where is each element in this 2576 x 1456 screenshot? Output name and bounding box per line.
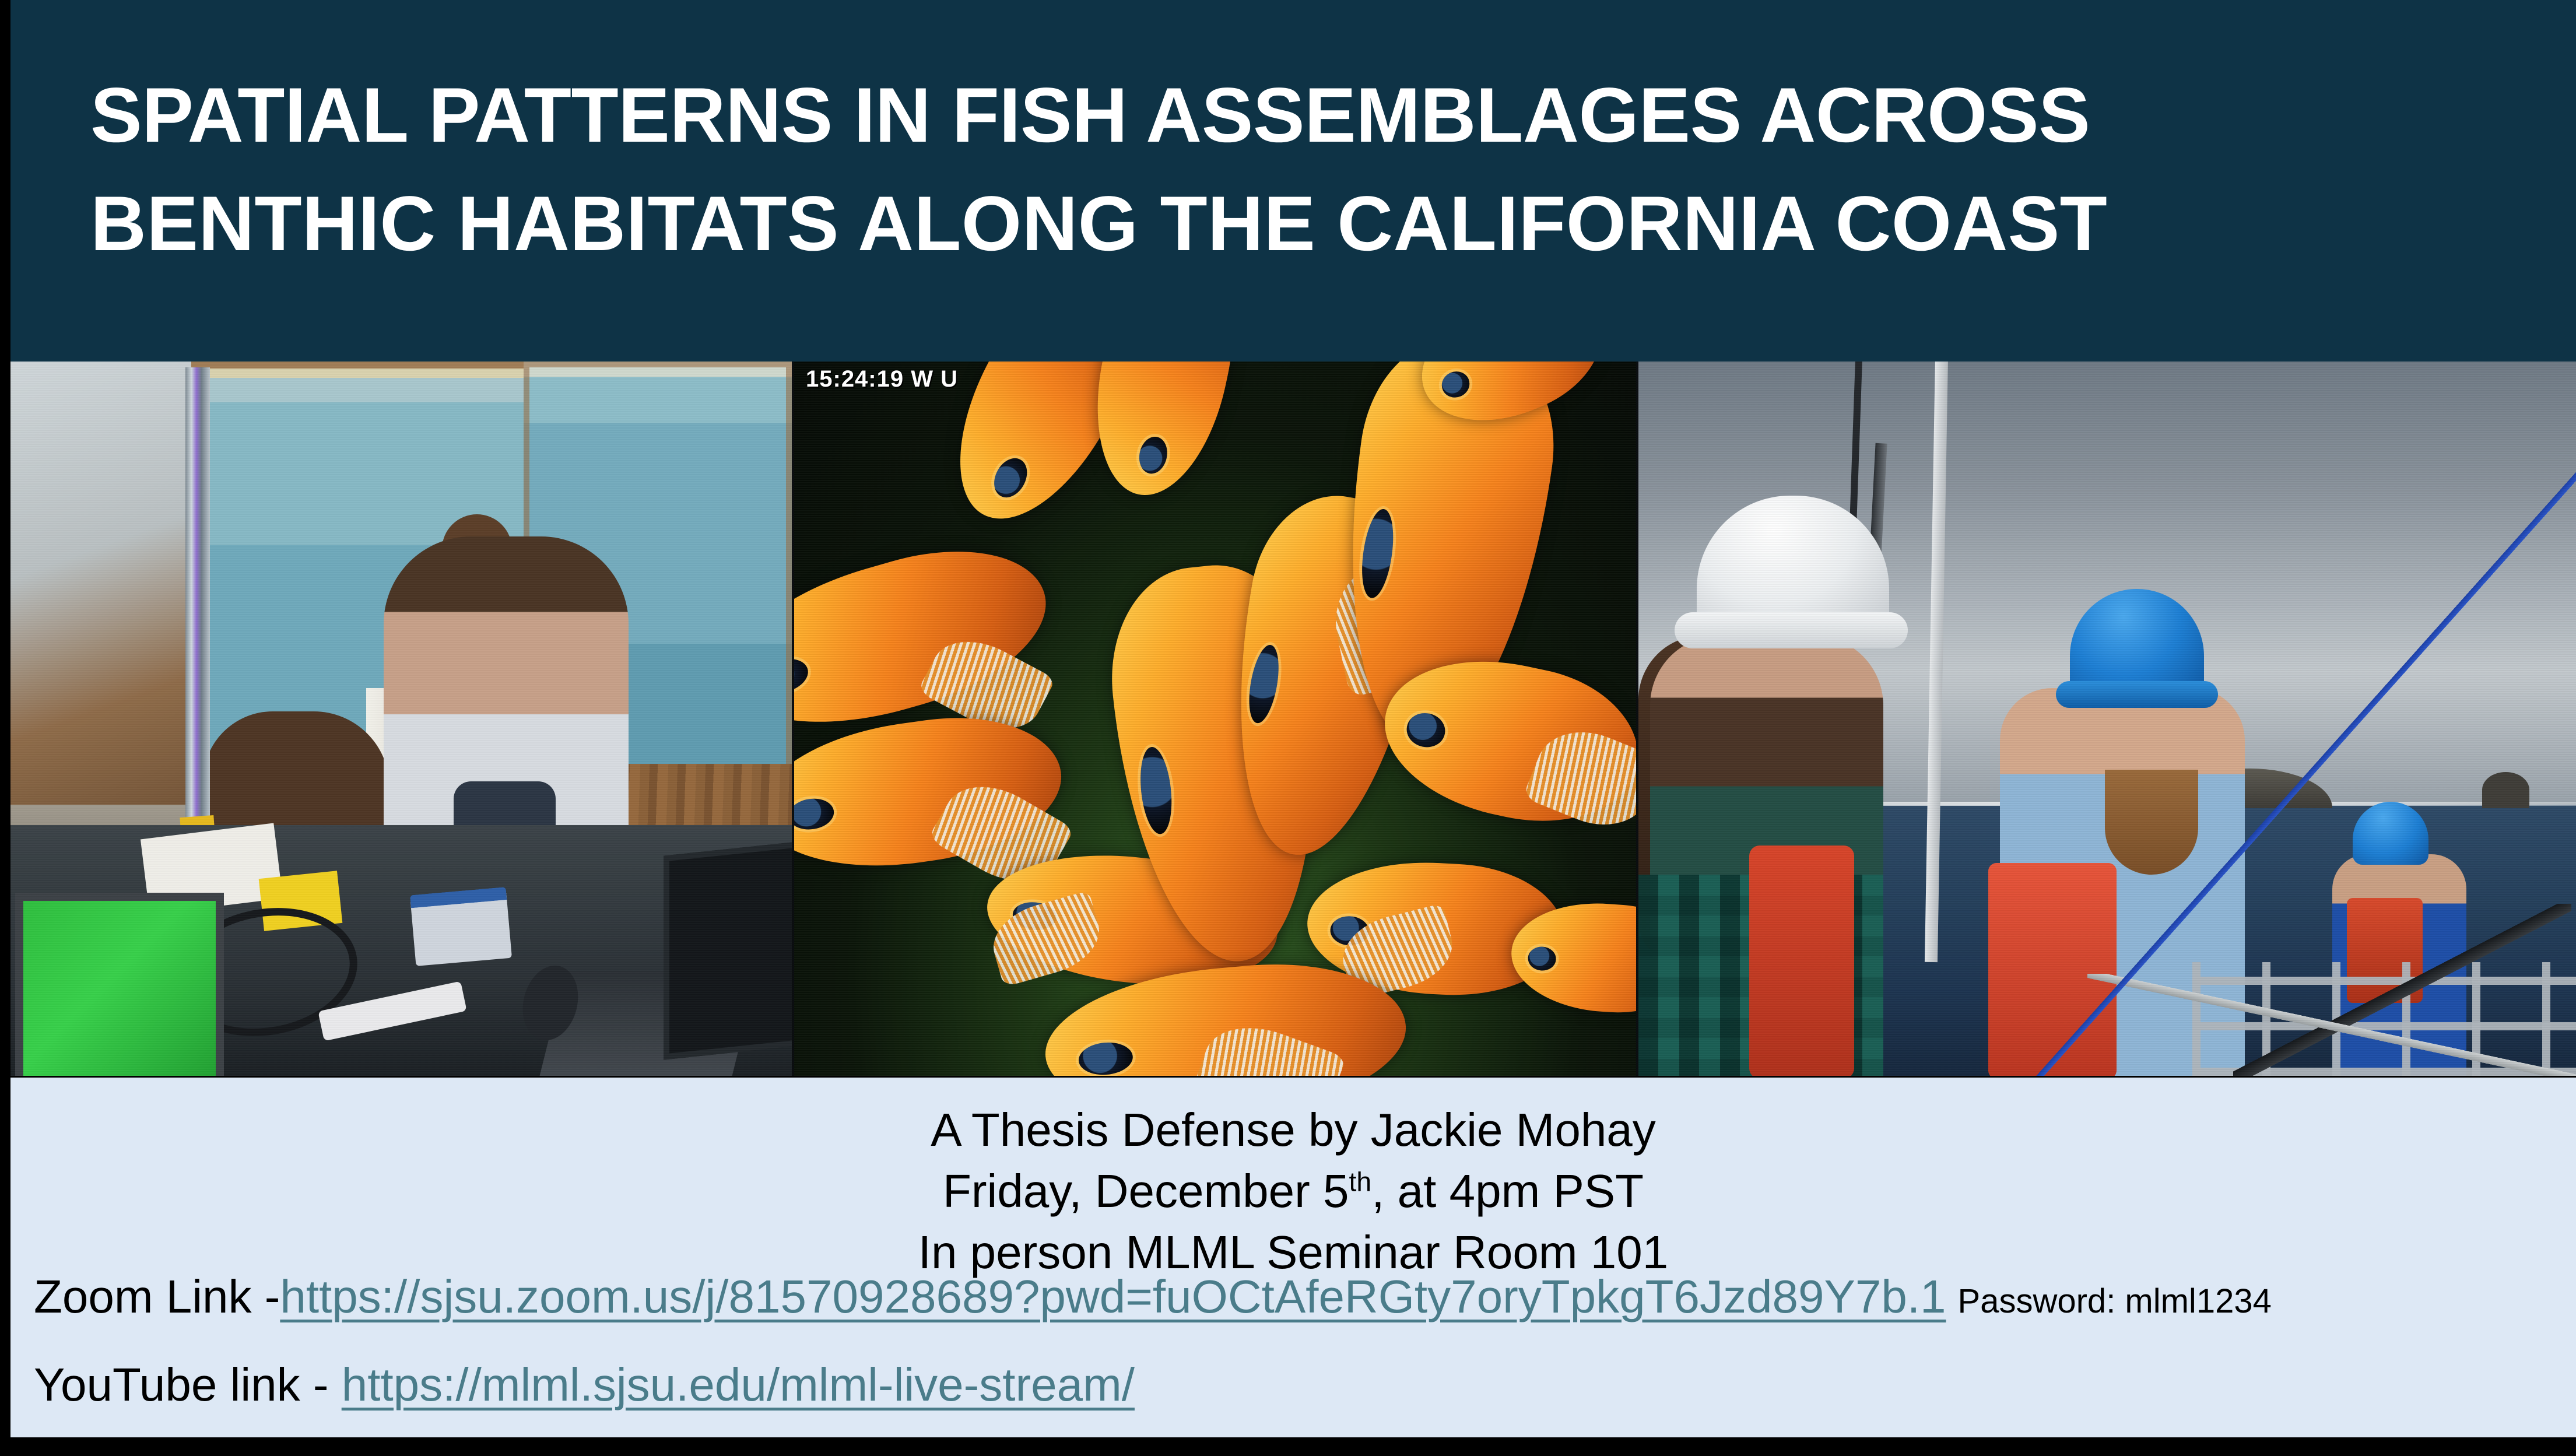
time-suffix: , at 4pm PST xyxy=(1371,1165,1644,1217)
cabin-wall xyxy=(10,362,191,840)
slide-frame-bottom-edge xyxy=(0,1437,2576,1456)
green-screen-monitor xyxy=(15,893,224,1076)
slide-frame-left-edge xyxy=(0,0,10,1456)
title-line-2: BENTHIC HABITATS ALONG THE CALIFORNIA CO… xyxy=(90,170,2498,278)
defense-presenter-line: A Thesis Defense by Jackie Mohay xyxy=(10,1100,2576,1161)
photo-rockfish-aggregation: 15:24:19 W U xyxy=(792,362,1638,1076)
page-title: SPATIAL PATTERNS IN FISH ASSEMBLAGES ACR… xyxy=(90,61,2498,278)
title-line-1: SPATIAL PATTERNS IN FISH ASSEMBLAGES ACR… xyxy=(90,61,2498,170)
youtube-link-row: YouTube link - https://mlml.sjsu.edu/mlm… xyxy=(34,1358,1135,1412)
title-header-band: SPATIAL PATTERNS IN FISH ASSEMBLAGES ACR… xyxy=(10,0,2576,362)
secondary-monitor xyxy=(664,841,792,1059)
video-timestamp-overlay: 15:24:19 W U xyxy=(806,366,958,392)
photo-grain-overlay xyxy=(1638,362,2576,1076)
zoom-link-row: Zoom Link -https://sjsu.zoom.us/j/815709… xyxy=(34,1270,2272,1324)
defense-datetime-line: Friday, December 5th, at 4pm PST xyxy=(10,1161,2576,1222)
photo-researchers-at-monitoring-station xyxy=(10,362,792,1076)
zoom-link-label: Zoom Link - xyxy=(34,1271,280,1322)
blue-equipment-case xyxy=(410,887,512,966)
video-grain-overlay xyxy=(794,362,1636,1076)
photo-deck-crew xyxy=(1638,362,2576,1076)
youtube-live-stream-link[interactable]: https://mlml.sjsu.edu/mlml-live-stream/ xyxy=(342,1359,1135,1411)
thesis-defense-announcement-slide: SPATIAL PATTERNS IN FISH ASSEMBLAGES ACR… xyxy=(0,0,2576,1456)
event-details-panel: A Thesis Defense by Jackie Mohay Friday,… xyxy=(10,1078,2576,1437)
zoom-meeting-link[interactable]: https://sjsu.zoom.us/j/81570928689?pwd=f… xyxy=(280,1271,1946,1322)
zoom-password-text: Password: mlml1234 xyxy=(1958,1282,2272,1320)
photo-strip: 15:24:19 W U xyxy=(10,362,2576,1076)
date-ordinal-suffix: th xyxy=(1349,1166,1371,1197)
date-prefix: Friday, December 5 xyxy=(943,1165,1349,1217)
youtube-link-label: YouTube link - xyxy=(34,1359,342,1411)
event-details-centered-block: A Thesis Defense by Jackie Mohay Friday,… xyxy=(10,1078,2576,1283)
